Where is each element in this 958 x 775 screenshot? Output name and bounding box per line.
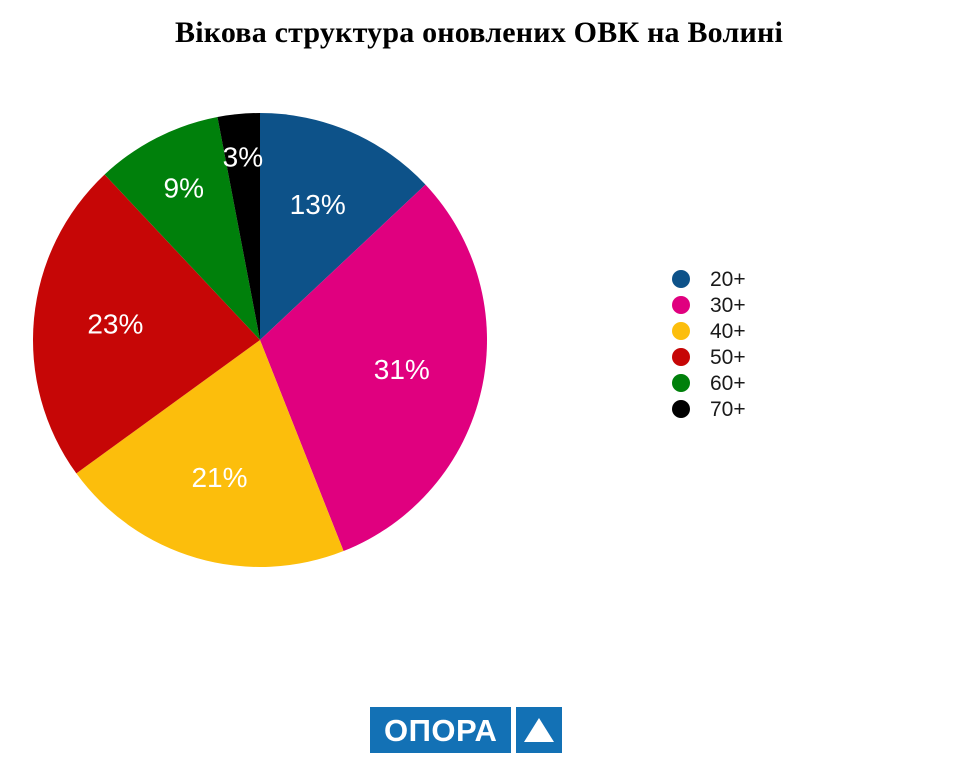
pie-slice-label: 3% [223,142,263,173]
pie-chart: 13%31%21%23%9%3% [0,0,560,700]
legend-item-label: 60+ [710,373,746,394]
opora-logo: ОПОРА [370,707,562,753]
legend-item[interactable]: 50+ [672,344,832,370]
pie-slice-label: 23% [87,309,143,340]
legend-item-label: 50+ [710,347,746,368]
pie-chart-svg: 13%31%21%23%9%3% [0,0,560,700]
legend-item-label: 30+ [710,295,746,316]
pie-slice-label: 31% [374,354,430,385]
legend-swatch-icon [672,374,690,392]
pie-slice-label: 13% [290,189,346,220]
legend-swatch-icon [672,400,690,418]
pie-slice-label: 21% [191,462,247,493]
legend-item[interactable]: 20+ [672,266,832,292]
logo-triangle-box [516,707,562,753]
legend-swatch-icon [672,348,690,366]
legend-item-label: 40+ [710,321,746,342]
legend-item[interactable]: 60+ [672,370,832,396]
legend-swatch-icon [672,296,690,314]
legend-item[interactable]: 30+ [672,292,832,318]
triangle-icon [524,718,554,742]
legend-item-label: 70+ [710,399,746,420]
legend-item-label: 20+ [710,269,746,290]
legend-swatch-icon [672,270,690,288]
legend: 20+30+40+50+60+70+ [672,266,832,422]
logo-wordmark-text: ОПОРА [384,715,497,746]
pie-slice-label: 9% [164,173,204,204]
legend-swatch-icon [672,322,690,340]
legend-item[interactable]: 70+ [672,396,832,422]
pie-slice-group [33,113,487,567]
logo-wordmark-box: ОПОРА [370,707,511,753]
legend-item[interactable]: 40+ [672,318,832,344]
